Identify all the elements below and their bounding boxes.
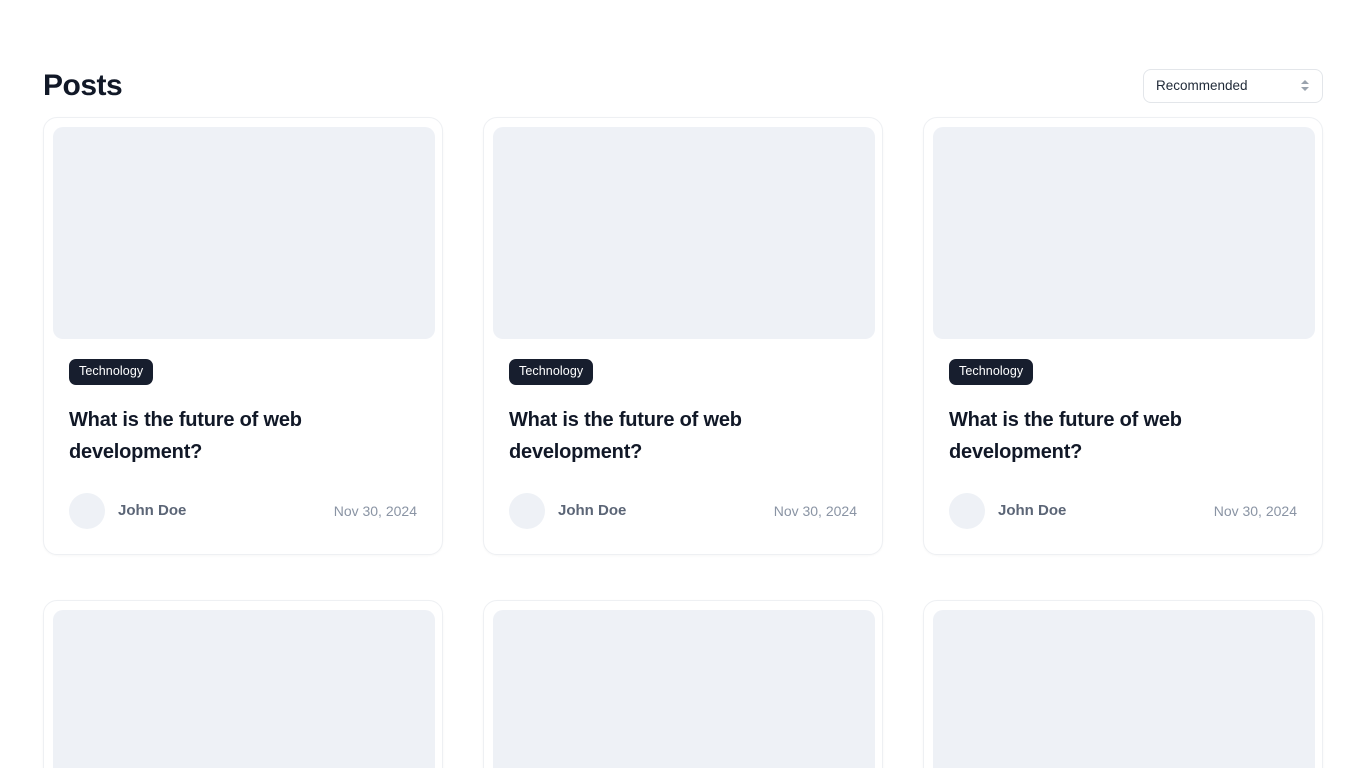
- post-author-name: John Doe: [998, 503, 1066, 518]
- post-title[interactable]: What is the future of web development?: [949, 404, 1249, 468]
- post-date: Nov 30, 2024: [1214, 504, 1297, 518]
- avatar: [69, 493, 105, 529]
- post-category-badge[interactable]: Technology: [69, 359, 153, 385]
- post-thumbnail-placeholder: [53, 610, 435, 768]
- post-thumbnail-placeholder: [933, 127, 1315, 339]
- post-category-badge[interactable]: Technology: [509, 359, 593, 385]
- posts-page: Posts Recommended Technology What is the…: [0, 0, 1366, 768]
- post-footer: John Doe Nov 30, 2024: [69, 493, 417, 554]
- post-footer: John Doe Nov 30, 2024: [509, 493, 857, 554]
- post-body: Technology What is the future of web dev…: [53, 339, 433, 554]
- post-card[interactable]: Technology What is the future of web dev…: [43, 117, 443, 555]
- post-card[interactable]: Technology What is the future of web dev…: [483, 117, 883, 555]
- posts-grid: Technology What is the future of web dev…: [43, 117, 1323, 768]
- post-title[interactable]: What is the future of web development?: [509, 404, 809, 468]
- post-author[interactable]: John Doe: [509, 493, 626, 529]
- post-body: Technology What is the future of web dev…: [933, 339, 1313, 554]
- page-header: Posts Recommended: [43, 0, 1323, 117]
- post-thumbnail-placeholder: [53, 127, 435, 339]
- post-body: Technology What is the future of web dev…: [493, 339, 873, 554]
- sort-select-value: Recommended: [1156, 79, 1248, 93]
- post-date: Nov 30, 2024: [334, 504, 417, 518]
- post-card[interactable]: Technology What is the future of web dev…: [923, 600, 1323, 768]
- post-thumbnail-placeholder: [493, 127, 875, 339]
- post-title[interactable]: What is the future of web development?: [69, 404, 369, 468]
- post-card[interactable]: Technology What is the future of web dev…: [483, 600, 883, 768]
- avatar: [509, 493, 545, 529]
- post-author[interactable]: John Doe: [69, 493, 186, 529]
- sort-select[interactable]: Recommended: [1143, 69, 1323, 103]
- post-author-name: John Doe: [118, 503, 186, 518]
- post-thumbnail-placeholder: [493, 610, 875, 768]
- post-date: Nov 30, 2024: [774, 504, 857, 518]
- post-footer: John Doe Nov 30, 2024: [949, 493, 1297, 554]
- post-author[interactable]: John Doe: [949, 493, 1066, 529]
- post-card[interactable]: Technology What is the future of web dev…: [923, 117, 1323, 555]
- chevron-up-down-icon: [1299, 78, 1310, 94]
- post-author-name: John Doe: [558, 503, 626, 518]
- post-card[interactable]: Technology What is the future of web dev…: [43, 600, 443, 768]
- page-title: Posts: [43, 69, 122, 102]
- avatar: [949, 493, 985, 529]
- post-category-badge[interactable]: Technology: [949, 359, 1033, 385]
- post-thumbnail-placeholder: [933, 610, 1315, 768]
